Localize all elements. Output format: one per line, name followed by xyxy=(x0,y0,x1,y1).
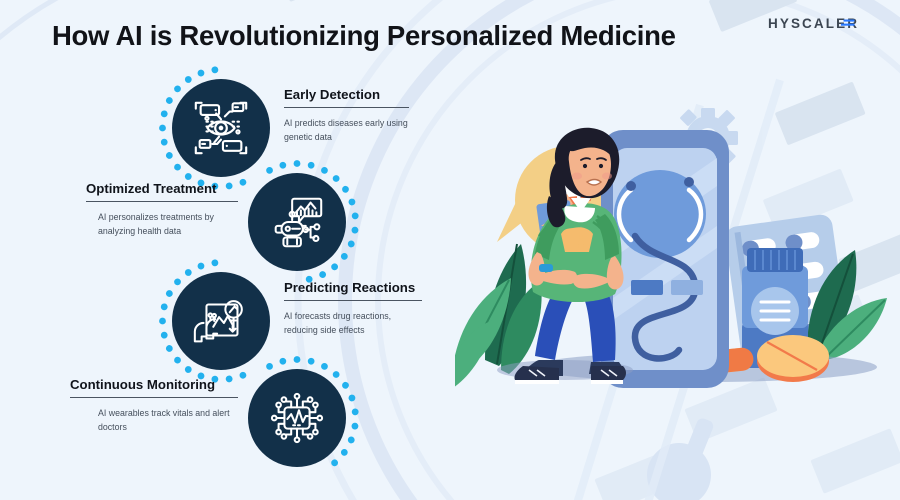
telemedicine-illustration xyxy=(455,30,900,500)
round-tablet xyxy=(757,335,829,382)
ui-bar-primary xyxy=(631,280,663,295)
smartwatch xyxy=(539,264,553,272)
ui-bar-secondary xyxy=(671,280,703,295)
logo-accent-bar-top xyxy=(844,20,855,22)
illustration-svg xyxy=(455,30,900,500)
feature-title: Early Detection xyxy=(284,87,409,107)
infographic-canvas: How AI is Revolutionizing Personalized M… xyxy=(0,0,900,500)
feature-title: Optimized Treatment xyxy=(86,181,238,201)
feature-text-block: Early Detection AI predicts diseases ear… xyxy=(284,87,409,144)
feature-title: Continuous Monitoring xyxy=(70,377,238,397)
feature-text-block: Optimized Treatment AI personalizes trea… xyxy=(86,181,238,238)
feature-description: AI wearables track vitals and alert doct… xyxy=(70,398,238,433)
feature-icon-badge xyxy=(248,369,346,467)
feature-text-block: Predicting Reactions AI forecasts drug r… xyxy=(284,280,422,337)
feature-description: AI forecasts drug reactions, reducing si… xyxy=(284,301,422,336)
feature-description: AI personalizes treatments by analyzing … xyxy=(86,202,238,237)
feature-text-block: Continuous Monitoring AI wearables track… xyxy=(70,377,238,434)
feature-description: AI predicts diseases early using genetic… xyxy=(284,108,409,143)
logo-text: HYSCALER xyxy=(768,16,859,31)
feature-title: Predicting Reactions xyxy=(284,280,422,300)
logo-accent-bar-bottom xyxy=(841,24,855,26)
dotted-arc-decoration xyxy=(231,352,363,484)
